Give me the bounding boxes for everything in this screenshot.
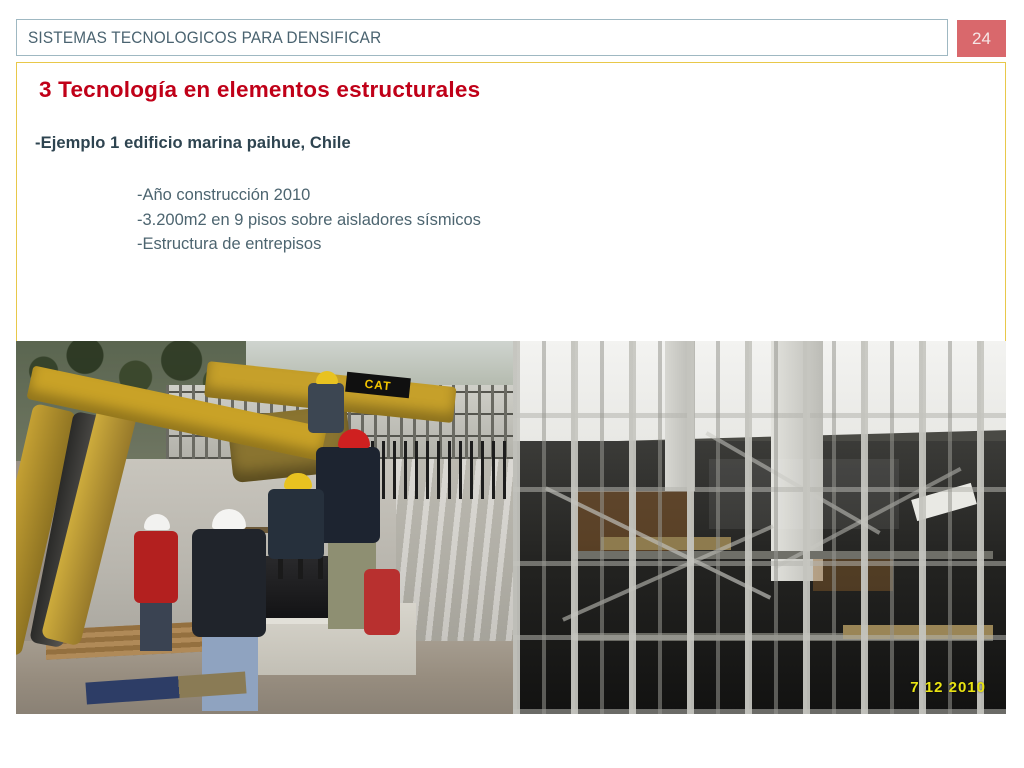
photo-band: CAT xyxy=(16,341,1006,714)
bullet-list: -Año construcción 2010 -3.200m2 en 9 pis… xyxy=(137,183,481,257)
page-number-badge: 24 xyxy=(957,20,1006,57)
camera-timestamp: 7 12 2010 xyxy=(910,679,986,696)
page-title: 3 Tecnología en elementos estructurales xyxy=(39,77,480,103)
list-item: -3.200m2 en 9 pisos sobre aisladores sís… xyxy=(137,208,481,233)
worker-figure-red-jacket xyxy=(134,531,178,603)
subtitle: -Ejemplo 1 edificio marina paihue, Chile xyxy=(35,134,351,153)
worker-figure xyxy=(364,569,400,635)
list-item: -Año construcción 2010 xyxy=(137,183,481,208)
header-title: SISTEMAS TECNOLOGICOS PARA DENSIFICAR xyxy=(28,29,381,48)
list-item: -Estructura de entrepisos xyxy=(137,232,481,257)
worker-figure-black-jacket xyxy=(192,529,266,637)
photo-scaffolding-structure: 7 12 2010 xyxy=(513,341,1006,714)
content-frame: 3 Tecnología en elementos estructurales … xyxy=(16,62,1006,342)
worker-figure xyxy=(316,447,380,543)
worker-figure xyxy=(268,489,324,559)
worker-figure xyxy=(308,383,344,433)
slide: SISTEMAS TECNOLOGICOS PARA DENSIFICAR 24… xyxy=(0,0,1024,768)
worker-legs xyxy=(140,599,172,651)
slide-header: SISTEMAS TECNOLOGICOS PARA DENSIFICAR 24 xyxy=(16,19,1006,58)
scaffold-vertical-poles xyxy=(513,341,1006,714)
header-title-box: SISTEMAS TECNOLOGICOS PARA DENSIFICAR xyxy=(16,19,948,56)
photo-seismic-isolator-installation: CAT xyxy=(16,341,513,714)
